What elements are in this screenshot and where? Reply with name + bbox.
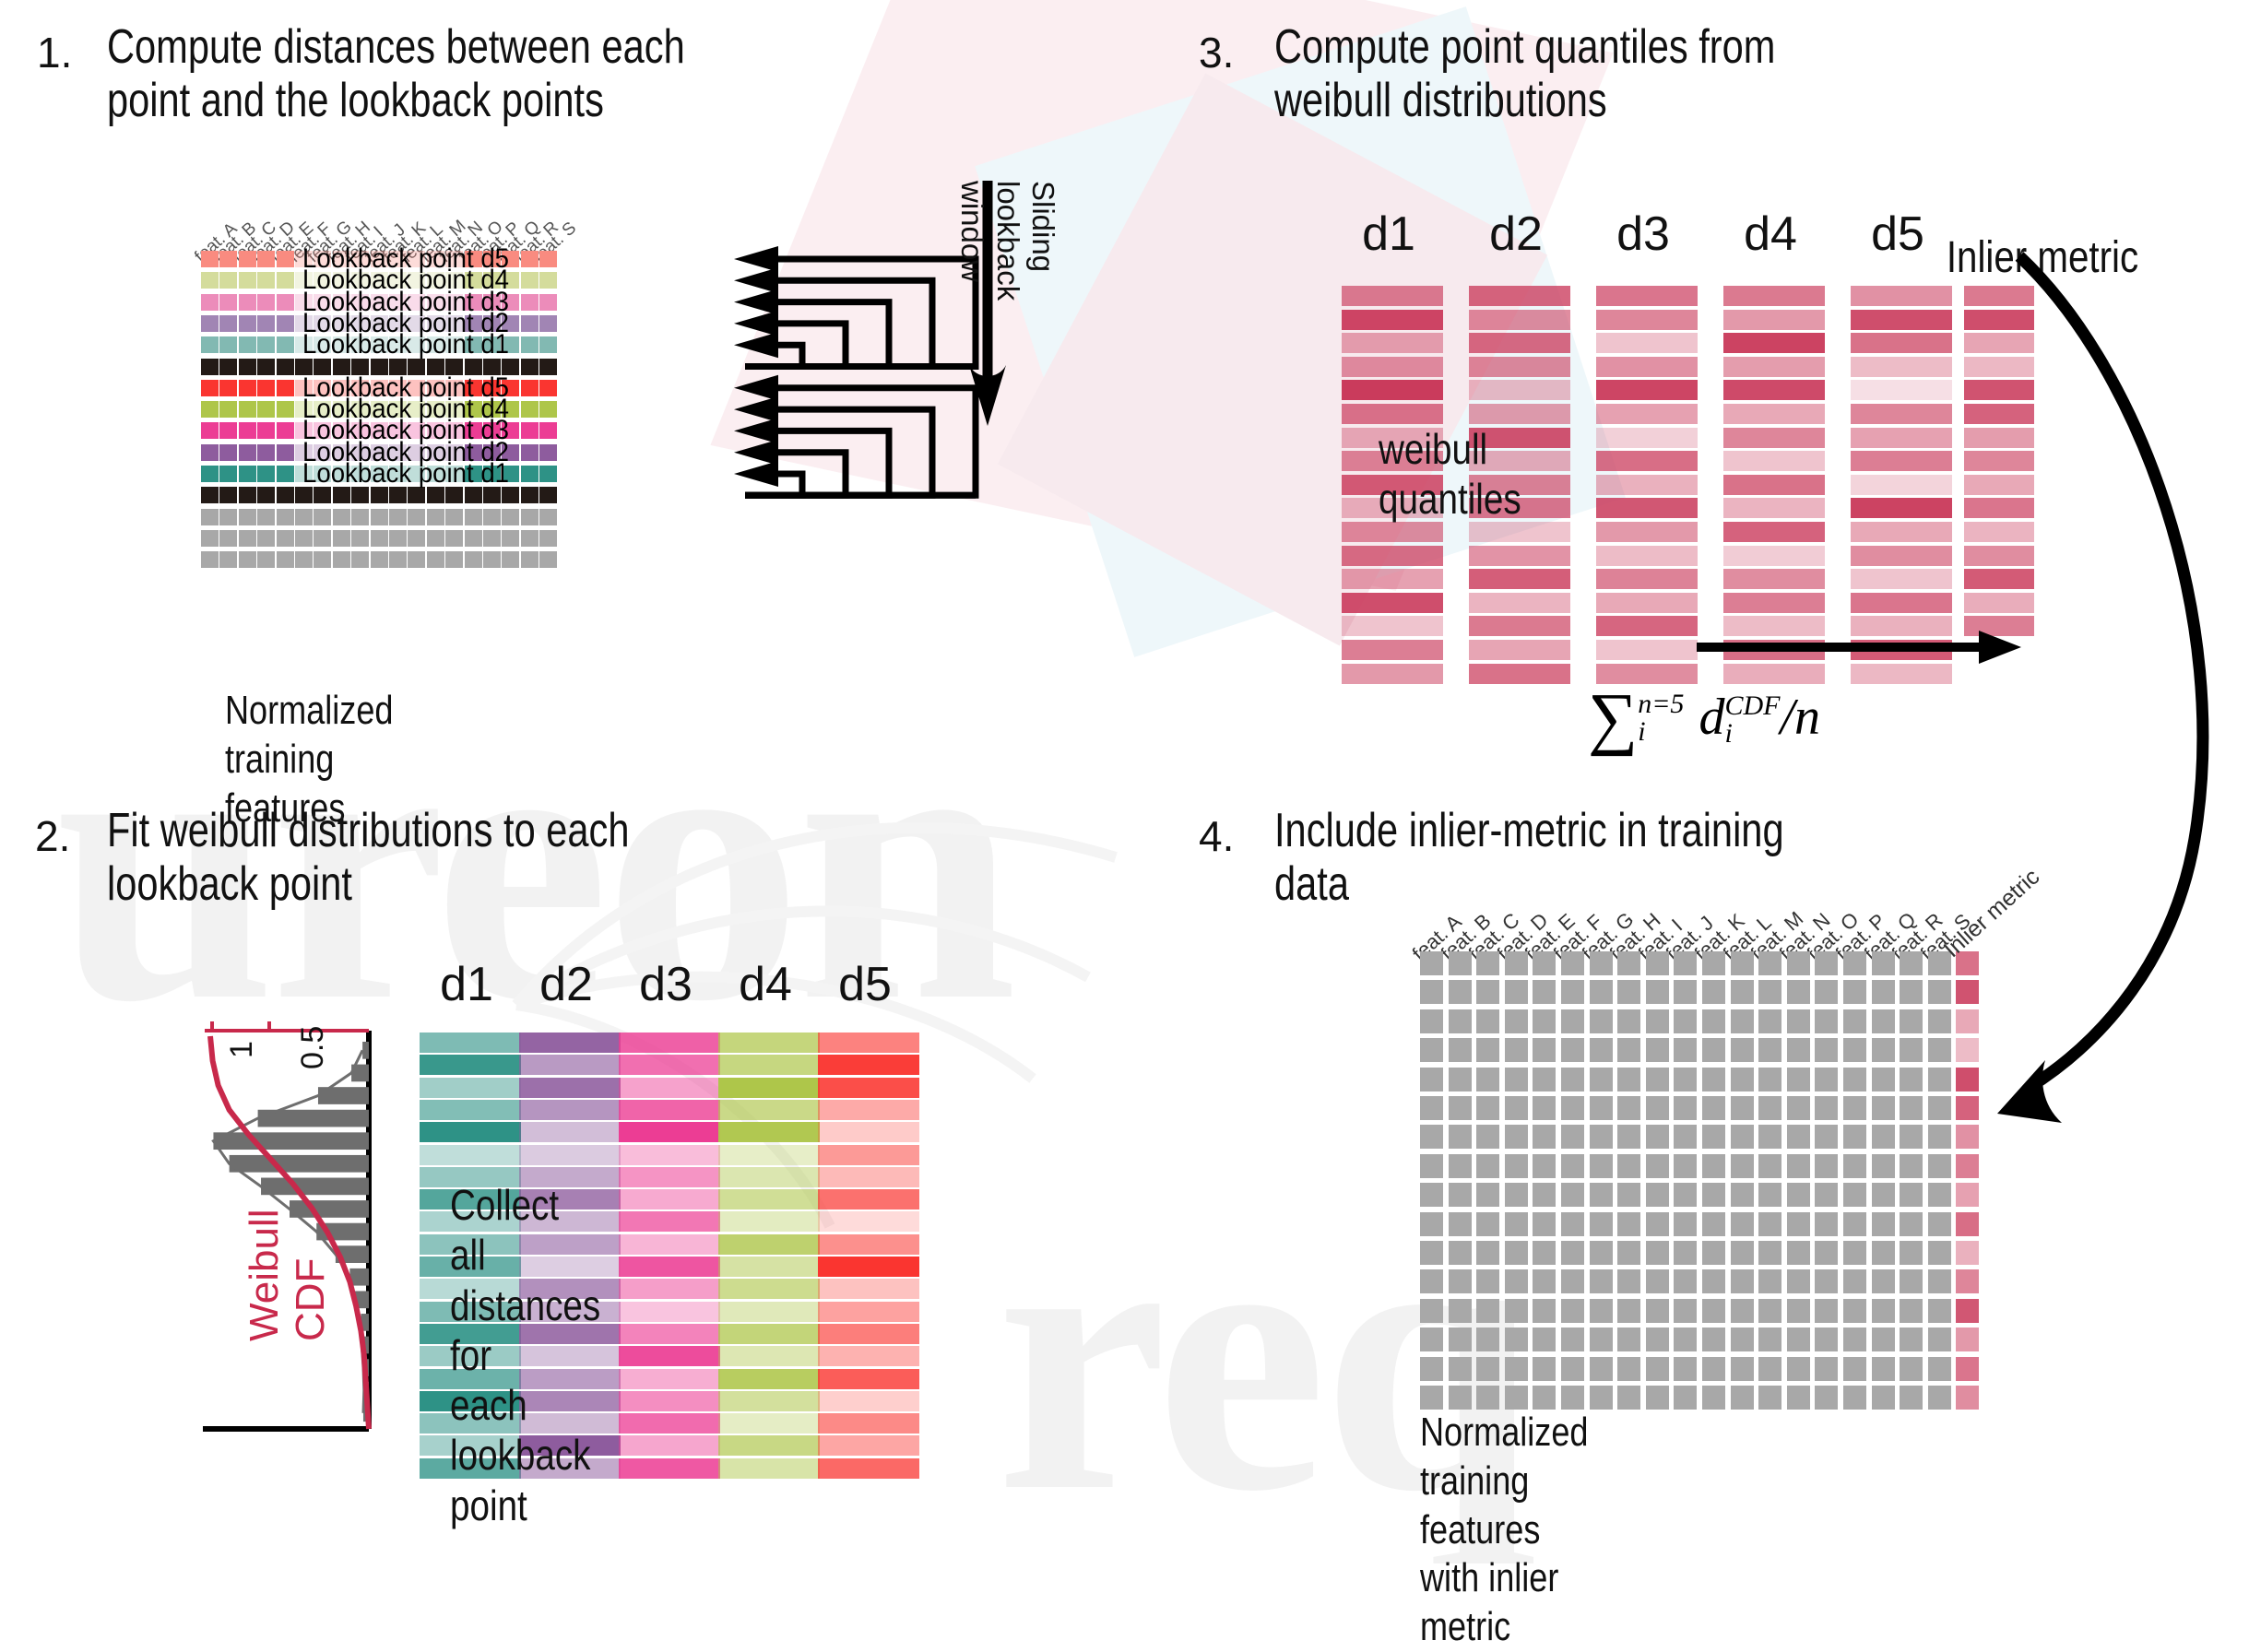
quantile-bar	[1342, 286, 1443, 306]
grid-cell	[1702, 1299, 1725, 1323]
grid-cell	[465, 530, 482, 547]
grid-cell	[1843, 1183, 1866, 1207]
grid-cell	[1449, 1212, 1472, 1236]
grid-cell	[1561, 1299, 1584, 1323]
grid-cell	[1561, 1068, 1584, 1091]
grid-cell	[239, 551, 256, 568]
grid-cell	[521, 551, 539, 568]
grid-cell	[1420, 1212, 1443, 1236]
grid-cell	[1449, 1009, 1472, 1033]
distance-bar	[619, 1055, 720, 1075]
distance-bar	[818, 1413, 919, 1434]
grid-cell	[1476, 1299, 1499, 1323]
grid-cell	[1476, 1212, 1499, 1236]
grid-cell	[1476, 1154, 1499, 1178]
distance-bar	[619, 1413, 720, 1434]
grid-cell	[1590, 1269, 1613, 1293]
grid-cell	[1533, 1357, 1556, 1381]
grid-cell	[1928, 1357, 1951, 1381]
grid-cell	[1815, 1386, 1838, 1410]
grid-cell	[1674, 1327, 1697, 1351]
quantile-bar	[1723, 286, 1825, 306]
grid-cell	[239, 401, 256, 418]
grid-cell	[1646, 1299, 1669, 1323]
grid-cell	[277, 487, 294, 503]
distance-bar	[619, 1211, 720, 1232]
grid-cell	[277, 336, 294, 353]
grid-cell	[1646, 1038, 1669, 1062]
grid-cell	[1787, 1096, 1810, 1120]
grid-cell	[521, 336, 539, 353]
grid-cell	[521, 422, 539, 439]
grid-cell	[1702, 1009, 1725, 1033]
grid-cell	[1928, 1183, 1951, 1207]
grid-cell	[1561, 1009, 1584, 1033]
grid-cell	[1758, 1212, 1781, 1236]
quantile-bar	[1723, 333, 1825, 353]
grid-cell	[1617, 1212, 1640, 1236]
quantile-bar	[1469, 664, 1570, 684]
grid-cell	[1674, 1154, 1697, 1178]
grid-cell	[539, 294, 557, 311]
grid-cell	[1787, 1125, 1810, 1149]
distance-bar	[619, 1324, 720, 1344]
grid-cell	[1646, 1183, 1669, 1207]
formula-subscript: i	[1724, 720, 1780, 749]
grid-cell	[1787, 1038, 1810, 1062]
grid-cell	[1731, 1068, 1754, 1091]
grid-cell	[219, 444, 237, 461]
inlier-metric-flow-arrow	[1835, 230, 2249, 1152]
quantile-bar	[1596, 451, 1698, 471]
grid-cell	[239, 509, 256, 525]
grid-cell	[1533, 1183, 1556, 1207]
grid-cell	[257, 315, 275, 332]
grid-cell	[1449, 1038, 1472, 1062]
grid-cell	[408, 509, 425, 525]
distance-bar	[818, 1211, 919, 1232]
quantile-bar	[1596, 333, 1698, 353]
panel-1-title: Compute distances between each point and…	[107, 20, 845, 127]
quantile-bar	[1723, 569, 1825, 589]
quantile-bar	[1596, 569, 1698, 589]
grid-cell	[201, 530, 219, 547]
grid-cell	[1505, 1183, 1528, 1207]
grid-cell	[1449, 1125, 1472, 1149]
grid-cell	[1561, 1038, 1584, 1062]
grid-cell	[1561, 980, 1584, 1004]
grid-cell	[1617, 980, 1640, 1004]
grid-cell	[1476, 1096, 1499, 1120]
distance-bar	[420, 1055, 521, 1075]
grid-cell	[1420, 1386, 1443, 1410]
column-head-d5: d5	[814, 957, 916, 1012]
grid-cell	[1731, 980, 1754, 1004]
formula-body: d	[1699, 689, 1724, 746]
grid-cell	[521, 530, 539, 547]
lookback-row-label: Lookback point d1	[302, 458, 509, 490]
grid-cell	[521, 251, 539, 267]
grid-cell	[1872, 1357, 1895, 1381]
grid-cell	[277, 466, 294, 482]
grid-cell	[521, 487, 539, 503]
grid-cell	[1928, 1299, 1951, 1323]
grid-cell	[371, 551, 388, 568]
panel-3-title: Compute point quantiles from weibull dis…	[1274, 20, 2086, 127]
grid-cell	[539, 444, 557, 461]
grid-cell	[1872, 1183, 1895, 1207]
distance-bar	[619, 1458, 720, 1479]
distance-bar	[718, 1458, 820, 1479]
grid-cell	[219, 336, 237, 353]
grid-cell	[1843, 1241, 1866, 1265]
grid-cell	[1758, 1299, 1781, 1323]
grid-cell	[1674, 1357, 1697, 1381]
grid-cell	[1449, 1068, 1472, 1091]
grid-cell	[1617, 1327, 1640, 1351]
sigma-glyph: ∑	[1588, 679, 1638, 757]
grid-cell	[1702, 1154, 1725, 1178]
grid-cell	[1674, 1212, 1697, 1236]
grid-cell	[1476, 1068, 1499, 1091]
grid-cell	[1787, 951, 1810, 975]
grid-cell	[1928, 1386, 1951, 1410]
distance-bar	[619, 1346, 720, 1366]
grid-cell	[1815, 1357, 1838, 1381]
grid-cell	[1449, 1269, 1472, 1293]
grid-cell	[1590, 1327, 1613, 1351]
distance-bar	[718, 1257, 820, 1277]
grid-cell	[1476, 1357, 1499, 1381]
grid-cell	[1449, 1096, 1472, 1120]
grid-cell	[1449, 1183, 1472, 1207]
grid-cell	[1900, 1327, 1923, 1351]
grid-cell	[1449, 1386, 1472, 1410]
grid-cell	[1674, 1386, 1697, 1410]
grid-cell	[1505, 980, 1528, 1004]
quantile-bar	[1342, 640, 1443, 660]
grid-cell	[219, 509, 237, 525]
grid-cell	[483, 551, 501, 568]
grid-cell	[295, 551, 313, 568]
panel-3-formula: ∑ n=5 i d CDF i /n	[1588, 671, 1820, 751]
distance-bar	[619, 1234, 720, 1255]
lookback-row-label: Lookback point d1	[302, 329, 509, 360]
grid-cell	[539, 272, 557, 289]
distance-bar	[818, 1234, 919, 1255]
grid-cell	[1702, 1327, 1725, 1351]
distance-bar	[420, 1100, 521, 1120]
grid-cell	[427, 551, 444, 568]
grid-cell	[371, 530, 388, 547]
grid-cell	[1646, 1154, 1669, 1178]
grid-cell	[1674, 1068, 1697, 1091]
column-head-d1: d1	[1338, 206, 1439, 262]
grid-cell	[1674, 1038, 1697, 1062]
grid-cell	[1561, 1212, 1584, 1236]
distance-bar	[519, 1122, 621, 1142]
distance-bar	[818, 1257, 919, 1277]
grid-cell	[219, 380, 237, 396]
quantile-bar	[1596, 522, 1698, 542]
quantile-bar	[1342, 569, 1443, 589]
grid-cell	[1449, 1241, 1472, 1265]
grid-cell	[1787, 1327, 1810, 1351]
grid-cell	[1843, 1212, 1866, 1236]
grid-cell	[1702, 1183, 1725, 1207]
quantile-bar	[1596, 380, 1698, 400]
distance-bar	[619, 1391, 720, 1411]
grid-cell	[1561, 1096, 1584, 1120]
distance-bar	[718, 1055, 820, 1075]
sliding-window-label: Sliding lookback window	[954, 181, 1060, 301]
grid-cell	[1505, 1241, 1528, 1265]
grid-cell	[201, 251, 219, 267]
grid-cell	[371, 509, 388, 525]
distance-bar	[420, 1145, 521, 1165]
grid-cell	[257, 509, 275, 525]
grid-cell	[1674, 1125, 1697, 1149]
grid-cell	[1449, 1327, 1472, 1351]
distance-bar	[818, 1324, 919, 1344]
grid-cell	[1533, 1068, 1556, 1091]
grid-cell	[1590, 1241, 1613, 1265]
grid-cell	[1646, 1125, 1669, 1149]
grid-cell	[502, 551, 519, 568]
distance-bar	[818, 1032, 919, 1053]
grid-cell	[1505, 1269, 1528, 1293]
grid-cell	[1590, 1009, 1613, 1033]
grid-cell	[1533, 1212, 1556, 1236]
grid-cell	[1900, 1357, 1923, 1381]
grid-cell	[333, 530, 350, 547]
distance-bar	[718, 1189, 820, 1209]
grid-cell	[521, 509, 539, 525]
grid-cell	[1617, 1009, 1640, 1033]
grid-cell	[219, 466, 237, 482]
grid-cell	[333, 551, 350, 568]
quantile-bar	[1342, 333, 1443, 353]
grid-cell	[1731, 951, 1754, 975]
grid-cell	[1533, 1038, 1556, 1062]
column-head-d4: d4	[715, 957, 816, 1012]
grid-cell	[351, 530, 369, 547]
grid-cell	[521, 359, 539, 375]
grid-cell	[1420, 1357, 1443, 1381]
distance-bar	[619, 1369, 720, 1389]
grid-cell	[1646, 1241, 1669, 1265]
grid-cell	[521, 272, 539, 289]
grid-cell	[1505, 1068, 1528, 1091]
grid-cell	[1505, 1009, 1528, 1033]
grid-cell	[239, 272, 256, 289]
grid-cell	[257, 422, 275, 439]
grid-cell	[201, 444, 219, 461]
quantile-bar	[1723, 546, 1825, 566]
grid-cell	[1731, 1096, 1754, 1120]
grid-cell	[539, 315, 557, 332]
grid-cell	[1590, 1154, 1613, 1178]
grid-cell	[1533, 1241, 1556, 1265]
distance-bar	[818, 1369, 919, 1389]
grid-cell	[1533, 1154, 1556, 1178]
grid-cell	[521, 380, 539, 396]
quantile-bar	[1469, 333, 1570, 353]
grid-cell	[1758, 1009, 1781, 1033]
sigma-upper-limit: n=5	[1638, 690, 1684, 719]
grid-cell	[219, 530, 237, 547]
distance-bar	[718, 1369, 820, 1389]
grid-cell	[389, 509, 407, 525]
grid-cell	[1900, 1241, 1923, 1265]
quantile-bar	[1342, 522, 1443, 542]
grid-cell	[257, 251, 275, 267]
grid-cell	[1787, 1269, 1810, 1293]
grid-cell	[1476, 1183, 1499, 1207]
grid-cell	[1758, 1327, 1781, 1351]
grid-cell	[1815, 1212, 1838, 1236]
grid-cell	[1533, 980, 1556, 1004]
grid-cell	[521, 294, 539, 311]
grid-cell	[1731, 1327, 1754, 1351]
quantile-bar	[1723, 451, 1825, 471]
distance-bar	[519, 1078, 621, 1098]
column-head-d3: d3	[1592, 206, 1694, 262]
grid-cell	[219, 422, 237, 439]
distance-bar	[718, 1078, 820, 1098]
grid-cell	[1505, 1327, 1528, 1351]
grid-cell	[239, 422, 256, 439]
quantile-bar	[1723, 475, 1825, 495]
distance-bar	[718, 1234, 820, 1255]
grid-cell	[1787, 1357, 1810, 1381]
grid-cell	[1617, 1125, 1640, 1149]
grid-cell	[201, 509, 219, 525]
grid-cell	[1590, 1357, 1613, 1381]
grid-cell	[502, 530, 519, 547]
grid-cell	[1420, 1241, 1443, 1265]
grid-cell	[239, 466, 256, 482]
grid-cell	[1646, 1269, 1669, 1293]
grid-cell	[239, 336, 256, 353]
grid-cell	[277, 294, 294, 311]
grid-cell	[1505, 1386, 1528, 1410]
step-number-1: 1.	[37, 28, 72, 77]
grid-cell	[1533, 1269, 1556, 1293]
grid-cell	[1420, 1299, 1443, 1323]
grid-cell	[1505, 1299, 1528, 1323]
grid-cell	[257, 401, 275, 418]
grid-cell	[201, 466, 219, 482]
grid-cell	[314, 551, 331, 568]
grid-cell	[201, 359, 219, 375]
grid-cell	[1505, 1154, 1528, 1178]
grid-cell	[1505, 951, 1528, 975]
quantile-bar	[1342, 546, 1443, 566]
grid-cell	[219, 272, 237, 289]
grid-cell	[219, 551, 237, 568]
distance-bar	[519, 1100, 621, 1120]
grid-cell	[239, 380, 256, 396]
grid-cell	[1731, 1009, 1754, 1033]
inlier-metric-cell	[1956, 1183, 1979, 1207]
grid-cell	[1731, 1125, 1754, 1149]
grid-cell	[1420, 1009, 1443, 1033]
grid-cell	[1702, 951, 1725, 975]
quantile-bar	[1469, 380, 1570, 400]
distance-bar	[818, 1458, 919, 1479]
grid-cell	[277, 551, 294, 568]
distance-bar	[818, 1078, 919, 1098]
grid-cell	[1815, 1299, 1838, 1323]
grid-cell	[1617, 1068, 1640, 1091]
grid-cell	[539, 509, 557, 525]
grid-cell	[1420, 1327, 1443, 1351]
quantile-bar	[1342, 616, 1443, 636]
grid-cell	[483, 530, 501, 547]
quantile-bar	[1469, 546, 1570, 566]
distance-bar	[420, 1122, 521, 1142]
grid-cell	[201, 401, 219, 418]
grid-cell	[1476, 1009, 1499, 1033]
distance-bar	[519, 1055, 621, 1075]
quantile-bar	[1723, 498, 1825, 518]
grid-cell	[295, 509, 313, 525]
step-number-2: 2.	[35, 811, 70, 861]
distance-bar	[818, 1167, 919, 1187]
quantile-bar	[1596, 475, 1698, 495]
grid-cell	[427, 509, 444, 525]
grid-cell	[1646, 1357, 1669, 1381]
grid-cell	[1533, 951, 1556, 975]
grid-cell	[1505, 1212, 1528, 1236]
grid-cell	[1900, 1386, 1923, 1410]
distance-bar	[718, 1100, 820, 1120]
distance-bar	[718, 1391, 820, 1411]
grid-cell	[1758, 1154, 1781, 1178]
grid-cell	[277, 359, 294, 375]
grid-cell	[1533, 1009, 1556, 1033]
panel-4-caption: Normalized training features with inlier…	[1420, 1409, 1588, 1652]
grid-cell	[1449, 1357, 1472, 1381]
distance-bar	[619, 1100, 720, 1120]
distance-bar	[818, 1055, 919, 1075]
grid-cell	[1758, 1038, 1781, 1062]
step-number-3: 3.	[1199, 28, 1234, 77]
grid-cell	[1900, 1154, 1923, 1178]
grid-cell	[1787, 1068, 1810, 1091]
grid-cell	[1872, 1212, 1895, 1236]
grid-cell	[201, 380, 219, 396]
weibull-tick-0-5: 0.5	[295, 1026, 331, 1069]
grid-cell	[1900, 1269, 1923, 1293]
grid-cell	[539, 359, 557, 375]
distance-bar	[718, 1324, 820, 1344]
grid-cell	[1787, 1009, 1810, 1033]
grid-cell	[1815, 1269, 1838, 1293]
grid-cell	[257, 551, 275, 568]
grid-cell	[239, 251, 256, 267]
grid-cell	[539, 380, 557, 396]
grid-cell	[257, 336, 275, 353]
grid-cell	[1702, 980, 1725, 1004]
grid-cell	[1561, 1154, 1584, 1178]
quantile-bar	[1342, 357, 1443, 377]
quantile-bar	[1596, 616, 1698, 636]
grid-cell	[539, 466, 557, 482]
grid-cell	[219, 315, 237, 332]
grid-cell	[1674, 951, 1697, 975]
